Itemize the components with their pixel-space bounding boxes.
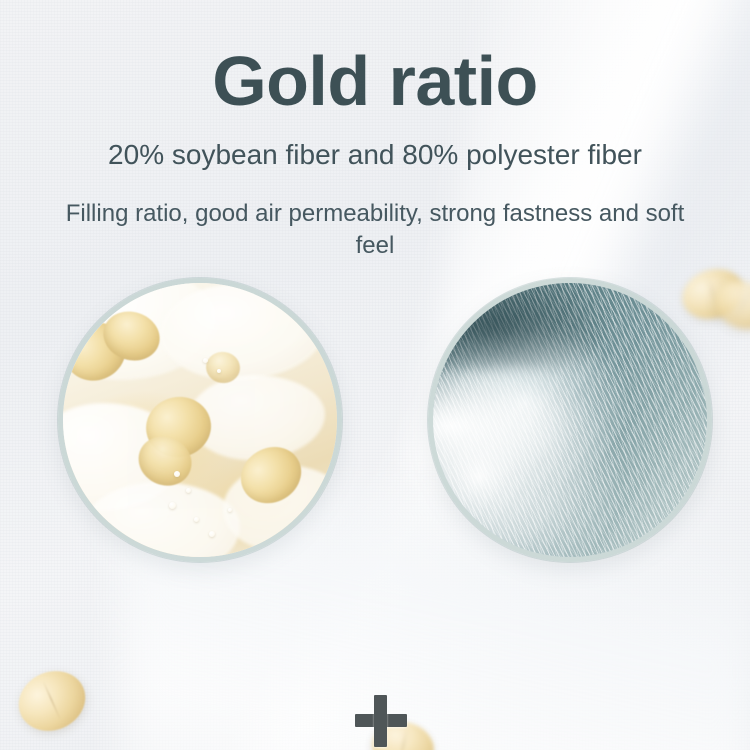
plus-icon bbox=[355, 695, 407, 747]
soy-milk-photo bbox=[58, 278, 342, 562]
soybean-decoration bbox=[9, 661, 95, 742]
polyester-fiber-photo bbox=[428, 278, 712, 562]
material-comparison bbox=[0, 278, 750, 568]
page-title: Gold ratio bbox=[0, 44, 750, 118]
polyester-fiber-image bbox=[428, 278, 712, 562]
fiber-shadow-top bbox=[428, 278, 613, 369]
poster-description: Filling ratio, good air permeability, st… bbox=[62, 198, 688, 263]
product-poster: Gold ratio 20% soybean fiber and 80% pol… bbox=[0, 0, 750, 750]
soybean-fiber-image bbox=[58, 278, 342, 562]
poster-subtitle: 20% soybean fiber and 80% polyester fibe… bbox=[0, 137, 750, 172]
